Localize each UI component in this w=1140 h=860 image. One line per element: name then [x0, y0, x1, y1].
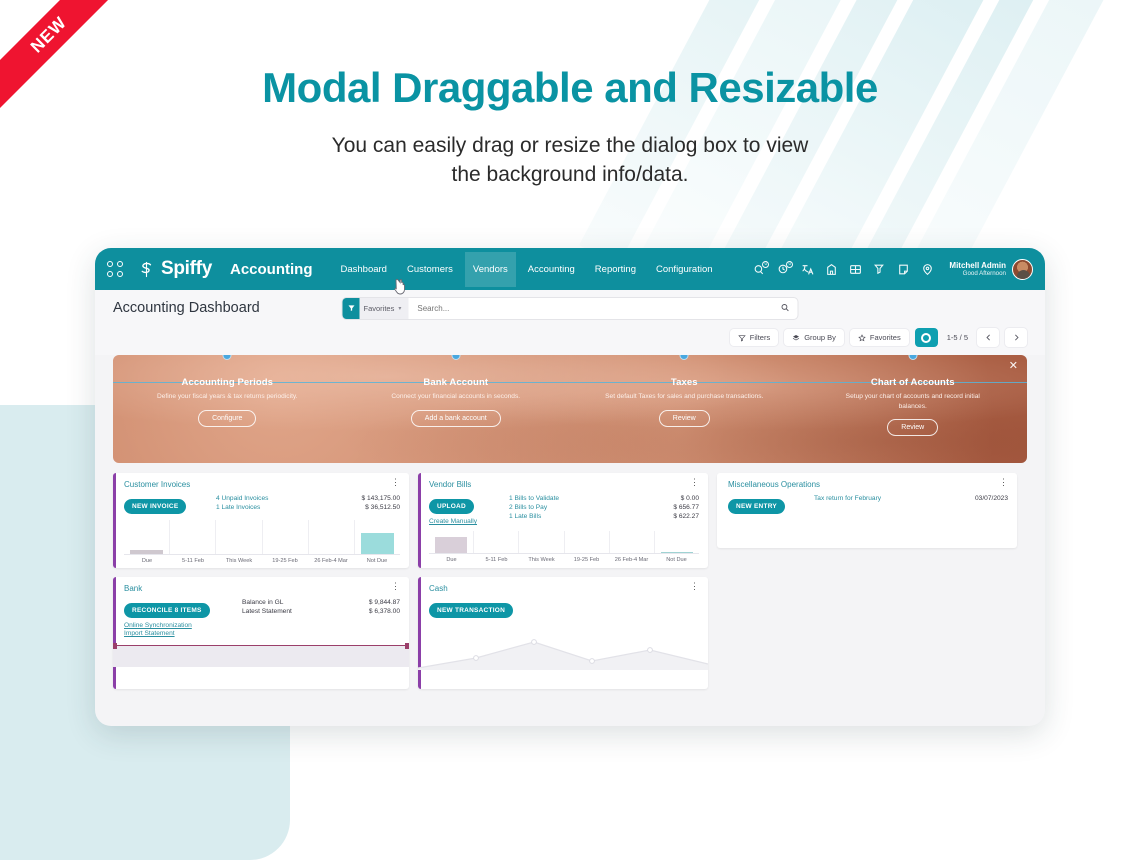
step-action-button[interactable]: Review	[659, 410, 710, 427]
row-value: $ 143,175.00	[361, 495, 400, 502]
chart-bar	[130, 550, 163, 554]
row-value: $ 36,512.50	[365, 504, 400, 511]
circle-view-icon	[921, 333, 931, 343]
nav-item-reporting[interactable]: Reporting	[587, 252, 644, 287]
control-bar: Accounting Dashboard Favorites ▾	[95, 290, 1045, 326]
invoices-chart-axis: Due 5-11 Feb This Week 19-25 Feb 26 Feb-…	[124, 554, 400, 568]
cash-sparkline-chart	[418, 628, 708, 670]
card-row[interactable]: Latest Statement $ 6,378.00	[242, 608, 400, 615]
card-accent-stripe	[418, 473, 421, 568]
view-toolbar: Filters Group By Favorites 1-5 / 5	[95, 326, 1045, 355]
user-menu[interactable]: Mitchell Admin Good Afternoon	[949, 259, 1033, 280]
mouse-cursor	[393, 278, 410, 305]
new-badge-label: NEW	[0, 0, 118, 114]
row-label: Tax return for February	[814, 495, 881, 502]
cards-column-1: Customer Invoices ⋮ NEW INVOICE 4 Unpaid…	[113, 473, 409, 689]
step-title: Chart of Accounts	[799, 377, 1028, 388]
chevron-right-icon	[1012, 333, 1021, 342]
step-dot-icon	[908, 355, 917, 360]
create-manually-link[interactable]: Create Manually	[429, 518, 509, 525]
cards-column-3: Miscellaneous Operations ⋮ NEW ENTRY Tax…	[717, 473, 1017, 689]
group-by-button[interactable]: Group By	[784, 329, 844, 346]
page-title: Accounting Dashboard	[113, 300, 260, 316]
promo-subtitle: You can easily drag or resize the dialog…	[0, 132, 1140, 189]
card-row[interactable]: 2 Bills to Pay $ 656.77	[509, 504, 699, 511]
card-customer-invoices: Customer Invoices ⋮ NEW INVOICE 4 Unpaid…	[113, 473, 409, 568]
bank-balance-bar	[113, 645, 409, 667]
navbar-right-tools: 0 0	[753, 259, 1033, 280]
pager-count: 1-5 / 5	[944, 333, 971, 342]
promo-subtitle-line1: You can easily drag or resize the dialog…	[332, 134, 809, 157]
kanban-view-button[interactable]	[915, 328, 938, 347]
axis-tick: Not Due	[654, 554, 699, 568]
chevron-left-icon	[984, 333, 993, 342]
axis-tick: 26 Feb-4 Mar	[609, 554, 654, 568]
new-invoice-button[interactable]: NEW INVOICE	[124, 499, 186, 514]
home-icon[interactable]	[825, 263, 838, 276]
onboarding-step-accounting-periods: Accounting Periods Define your fiscal ye…	[113, 355, 342, 463]
card-menu-icon[interactable]: ⋮	[391, 584, 400, 589]
new-transaction-button[interactable]: NEW TRANSACTION	[429, 603, 513, 618]
axis-tick: This Week	[519, 554, 564, 568]
card-accent-stripe	[113, 577, 116, 689]
onboarding-step-bank-account: Bank Account Connect your financial acco…	[342, 355, 571, 463]
location-pin-icon[interactable]	[921, 263, 934, 276]
main-nav-menu: Dashboard Customers Vendors Accounting R…	[332, 252, 720, 287]
card-menu-icon[interactable]: ⋮	[999, 480, 1008, 485]
online-synchronization-link[interactable]: Online Synchronization	[124, 622, 242, 629]
axis-tick: Not Due	[354, 555, 400, 568]
translate-icon[interactable]	[801, 263, 814, 276]
app-window: Spiffy Accounting Dashboard Customers Ve…	[95, 248, 1045, 726]
favorites-button-label: Favorites	[870, 333, 901, 342]
card-title: Vendor Bills	[429, 480, 471, 489]
favorites-button[interactable]: Favorites	[850, 329, 909, 346]
step-dot-icon	[223, 355, 232, 360]
search-icon[interactable]	[773, 299, 798, 317]
axis-tick: 26 Feb-4 Mar	[308, 555, 354, 568]
favorites-chip-label: Favorites	[364, 304, 395, 313]
card-title: Bank	[124, 584, 142, 593]
step-description: Connect your financial accounts in secon…	[342, 392, 571, 402]
current-app-name: Accounting	[230, 261, 313, 278]
card-row[interactable]: Balance in GL $ 9,844.87	[242, 599, 400, 606]
user-name: Mitchell Admin	[949, 261, 1006, 270]
step-description: Setup your chart of accounts and record …	[799, 392, 1028, 411]
chart-bar	[361, 533, 394, 554]
row-label: 4 Unpaid Invoices	[216, 495, 268, 502]
onboarding-banner: ✕ Accounting Periods Define your fiscal …	[113, 355, 1027, 463]
chevron-down-icon: ▾	[398, 305, 401, 312]
axis-tick: Due	[429, 554, 474, 568]
user-greeting: Good Afternoon	[949, 270, 1006, 277]
card-row[interactable]: 1 Late Bills $ 622.27	[509, 513, 699, 520]
card-menu-icon[interactable]: ⋮	[690, 584, 699, 589]
row-label: 1 Bills to Validate	[509, 495, 559, 502]
search-input[interactable]	[408, 304, 772, 313]
filter-funnel-icon	[343, 298, 360, 319]
axis-tick: 5-11 Feb	[170, 555, 216, 568]
row-label: 1 Late Invoices	[216, 504, 260, 511]
reconcile-button[interactable]: RECONCILE 8 ITEMS	[124, 603, 210, 618]
axis-tick: 5-11 Feb	[474, 554, 519, 568]
new-badge-ribbon: NEW	[0, 0, 118, 118]
card-title: Miscellaneous Operations	[728, 480, 820, 489]
chart-bar	[435, 537, 467, 553]
brand-logo[interactable]: Spiffy	[137, 258, 212, 280]
filters-button-label: Filters	[750, 333, 770, 342]
nav-item-vendors[interactable]: Vendors	[465, 252, 516, 287]
step-action-button[interactable]: Configure	[198, 410, 256, 427]
card-row[interactable]: 4 Unpaid Invoices $ 143,175.00	[216, 495, 400, 502]
chart-bar	[661, 552, 693, 553]
dashboard-cards: Customer Invoices ⋮ NEW INVOICE 4 Unpaid…	[95, 463, 1045, 689]
step-title: Bank Account	[342, 377, 571, 388]
nav-item-dashboard[interactable]: Dashboard	[332, 252, 394, 287]
activities-icon[interactable]: 0	[777, 263, 790, 276]
axis-tick: 19-25 Feb	[564, 554, 609, 568]
row-value: $ 622.27	[673, 513, 699, 520]
card-row[interactable]: Tax return for February 03/07/2023	[814, 495, 1008, 502]
card-title: Customer Invoices	[124, 480, 190, 489]
cards-column-2: Vendor Bills ⋮ UPLOAD Create Manually 1 …	[418, 473, 708, 689]
row-label: 1 Late Bills	[509, 513, 541, 520]
row-value: $ 656.77	[673, 504, 699, 511]
row-label: Latest Statement	[242, 608, 292, 615]
step-action-button[interactable]: Review	[887, 419, 938, 436]
spiffy-s-icon	[137, 260, 156, 279]
card-row[interactable]: 1 Bills to Validate $ 0.00	[509, 495, 699, 502]
vendor-bills-bar-chart	[429, 531, 699, 553]
layers-icon	[792, 334, 800, 342]
step-title: Taxes	[570, 377, 799, 388]
vendor-bills-chart-axis: Due 5-11 Feb This Week 19-25 Feb 26 Feb-…	[429, 553, 699, 568]
prev-page-button[interactable]	[977, 328, 999, 347]
import-statement-link[interactable]: Import Statement	[124, 630, 242, 637]
row-label: Balance in GL	[242, 599, 283, 606]
card-row[interactable]: 1 Late Invoices $ 36,512.50	[216, 504, 400, 511]
search-bar[interactable]: Favorites ▾	[343, 298, 798, 319]
messages-icon[interactable]: 0	[753, 263, 766, 276]
card-cash: Cash ⋮ NEW TRANSACTION	[418, 577, 708, 689]
row-value: $ 9,844.87	[369, 599, 400, 606]
step-dot-icon	[680, 355, 689, 360]
apps-grid-icon[interactable]	[849, 263, 862, 276]
nav-item-accounting[interactable]: Accounting	[520, 252, 583, 287]
card-bank: Bank ⋮ RECONCILE 8 ITEMS Online Synchron…	[113, 577, 409, 689]
onboarding-step-taxes: Taxes Set default Taxes for sales and pu…	[570, 355, 799, 463]
apps-menu-icon[interactable]	[107, 261, 123, 277]
promo-headline-block: Modal Draggable and Resizable You can ea…	[0, 64, 1140, 189]
group-by-button-label: Group By	[804, 333, 836, 342]
nav-item-configuration[interactable]: Configuration	[648, 252, 721, 287]
new-entry-button[interactable]: NEW ENTRY	[728, 499, 785, 514]
note-icon[interactable]	[897, 263, 910, 276]
card-menu-icon[interactable]: ⋮	[391, 480, 400, 485]
avatar[interactable]	[1012, 259, 1033, 280]
filters-button[interactable]: Filters	[730, 329, 778, 346]
card-miscellaneous-operations: Miscellaneous Operations ⋮ NEW ENTRY Tax…	[717, 473, 1017, 548]
row-label: 2 Bills to Pay	[509, 504, 547, 511]
step-title: Accounting Periods	[113, 377, 342, 388]
card-menu-icon[interactable]: ⋮	[690, 480, 699, 485]
axis-tick: 19-25 Feb	[262, 555, 308, 568]
onboarding-step-chart-of-accounts: Chart of Accounts Setup your chart of ac…	[799, 355, 1028, 463]
brand-name: Spiffy	[161, 258, 212, 280]
activities-badge: 0	[786, 261, 793, 268]
row-value: $ 6,378.00	[369, 608, 400, 615]
promo-subtitle-line2: the background info/data.	[451, 163, 688, 186]
axis-tick: This Week	[216, 555, 262, 568]
invoices-bar-chart	[124, 520, 400, 554]
axis-tick: Due	[124, 555, 170, 568]
filter-flag-icon[interactable]	[873, 263, 886, 276]
step-action-button[interactable]: Add a bank account	[411, 410, 501, 427]
step-description: Define your fiscal years & tax returns p…	[113, 392, 342, 402]
messages-badge: 0	[762, 261, 769, 268]
step-description: Set default Taxes for sales and purchase…	[570, 392, 799, 402]
card-title: Cash	[429, 584, 448, 593]
card-vendor-bills: Vendor Bills ⋮ UPLOAD Create Manually 1 …	[418, 473, 708, 568]
funnel-icon	[738, 334, 746, 342]
onboarding-steps: Accounting Periods Define your fiscal ye…	[113, 355, 1027, 463]
row-value: 03/07/2023	[975, 495, 1008, 502]
top-navbar: Spiffy Accounting Dashboard Customers Ve…	[95, 248, 1045, 290]
step-dot-icon	[451, 355, 460, 360]
row-value: $ 0.00	[681, 495, 699, 502]
star-icon	[858, 334, 866, 342]
card-accent-stripe	[113, 473, 116, 568]
promo-title: Modal Draggable and Resizable	[0, 64, 1140, 112]
next-page-button[interactable]	[1005, 328, 1027, 347]
upload-button[interactable]: UPLOAD	[429, 499, 474, 514]
